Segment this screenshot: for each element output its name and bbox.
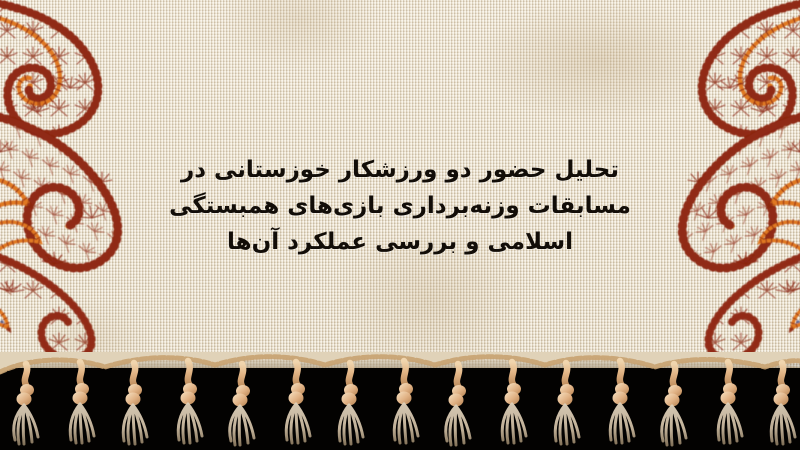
- title-line-3: اسلامی و بررسی عملکرد آن‌ها: [165, 224, 635, 260]
- knotted-tassel-fringe-icon: [0, 352, 800, 450]
- page-title: تحلیل حضور دو ورزشکار خوزستانی در مسابقا…: [165, 152, 635, 260]
- banner-image: تحلیل حضور دو ورزشکار خوزستانی در مسابقا…: [0, 0, 800, 450]
- title-line-2: مسابقات وزنه‌برداری بازی‌های همبستگی: [165, 188, 635, 224]
- title-line-1: تحلیل حضور دو ورزشکار خوزستانی در: [165, 152, 635, 188]
